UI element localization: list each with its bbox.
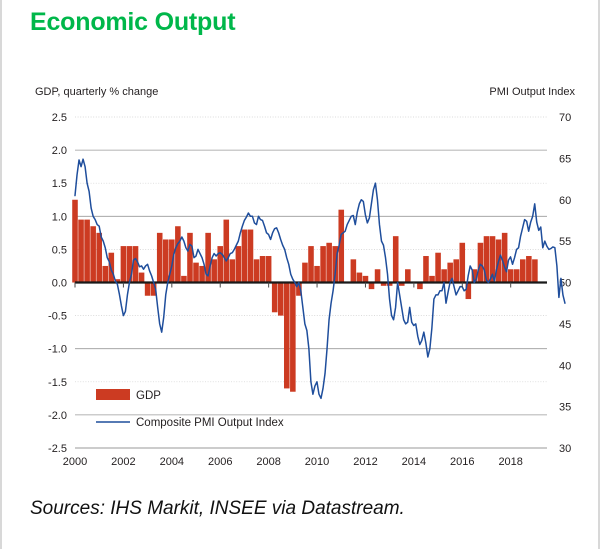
- x-axis-tick-label: 2008: [256, 456, 280, 468]
- gdp-bar: [405, 269, 411, 282]
- gdp-bar: [242, 230, 248, 283]
- gdp-bar: [435, 253, 441, 283]
- gdp-bar: [217, 246, 223, 282]
- gdp-bar: [272, 283, 278, 313]
- left-axis-tick-label: 1.5: [52, 178, 67, 190]
- gdp-bar: [72, 200, 78, 283]
- page-title: Economic Output: [30, 8, 235, 37]
- x-axis-tick-label: 2014: [402, 456, 426, 468]
- gdp-bar: [508, 269, 514, 282]
- x-axis-tick-label: 2000: [63, 456, 87, 468]
- left-axis-tick-label: 2.0: [52, 145, 67, 157]
- gdp-bar: [502, 233, 508, 283]
- gdp-bar: [284, 283, 290, 389]
- gdp-bar: [441, 269, 447, 282]
- chart-card: Economic Output GDP, quarterly % change …: [0, 0, 600, 549]
- x-axis-tick-label: 2016: [450, 456, 474, 468]
- left-axis-tick-label: 0.5: [52, 244, 67, 256]
- gdp-bar: [102, 266, 108, 283]
- x-axis-tick-label: 2006: [208, 456, 232, 468]
- gdp-bar: [459, 243, 465, 283]
- gdp-bar: [199, 266, 205, 283]
- gdp-bar: [139, 273, 145, 283]
- legend-label-pmi: Composite PMI Output Index: [136, 417, 284, 429]
- gdp-bar: [254, 259, 260, 282]
- gdp-bar: [453, 259, 459, 282]
- gdp-bar: [236, 246, 242, 282]
- legend-label-gdp: GDP: [136, 390, 161, 402]
- gdp-bar: [393, 236, 399, 282]
- x-axis-tick-label: 2018: [498, 456, 522, 468]
- gdp-bar: [375, 269, 381, 282]
- left-axis-tick-label: -1.5: [48, 377, 67, 389]
- gdp-bar: [484, 236, 490, 282]
- source-note: Sources: IHS Markit, INSEE via Datastrea…: [30, 498, 405, 520]
- gdp-bar: [230, 259, 236, 282]
- gdp-bar: [78, 220, 84, 283]
- gdp-bar: [223, 220, 229, 283]
- gdp-bar: [163, 239, 169, 282]
- gdp-bar: [514, 269, 520, 282]
- economic-output-chart: 2.52.01.51.00.50.0-0.5-1.0-1.5-2.0-2.570…: [2, 62, 600, 492]
- gdp-bar: [351, 259, 357, 282]
- x-axis-tick-label: 2004: [160, 456, 184, 468]
- gdp-bar: [357, 273, 363, 283]
- gdp-bar: [84, 220, 90, 283]
- gdp-bar: [326, 243, 332, 283]
- gdp-bar: [320, 246, 326, 282]
- right-axis-tick-label: 60: [559, 195, 571, 207]
- gdp-bar: [260, 256, 266, 282]
- gdp-bar: [193, 263, 199, 283]
- gdp-bar: [248, 230, 254, 283]
- left-axis-tick-label: -2.0: [48, 410, 67, 422]
- right-axis-tick-label: 40: [559, 360, 571, 372]
- gdp-bars-group: [72, 200, 537, 392]
- gdp-bar: [157, 233, 163, 283]
- gdp-bar: [520, 259, 526, 282]
- x-axis-tick-label: 2002: [111, 456, 135, 468]
- right-axis-tick-label: 65: [559, 153, 571, 165]
- left-axis-tick-label: 0.0: [52, 278, 67, 290]
- gdp-bar: [266, 256, 272, 282]
- gdp-bar: [90, 226, 96, 282]
- gdp-bar: [175, 226, 181, 282]
- right-axis-tick-label: 30: [559, 443, 571, 455]
- gdp-bar: [314, 266, 320, 283]
- gdp-bar: [121, 246, 127, 282]
- gdp-bar: [302, 263, 308, 283]
- right-axis-tick-label: 35: [559, 402, 571, 414]
- chart-plot-region: GDP, quarterly % change PMI Output Index…: [2, 62, 600, 492]
- gdp-bar: [145, 283, 151, 296]
- gdp-bar: [278, 283, 284, 316]
- x-axis-tick-label: 2010: [305, 456, 329, 468]
- right-axis-tick-label: 70: [559, 112, 571, 124]
- legend-swatch-gdp: [96, 389, 130, 400]
- left-axis-tick-label: -1.0: [48, 344, 67, 356]
- gdp-bar: [96, 233, 102, 283]
- gdp-bar: [187, 233, 193, 283]
- gdp-bar: [290, 283, 296, 392]
- right-axis-tick-label: 55: [559, 236, 571, 248]
- left-axis-tick-label: -0.5: [48, 311, 67, 323]
- gdp-bar: [423, 256, 429, 282]
- gdp-bar: [308, 246, 314, 282]
- x-axis-tick-label: 2012: [353, 456, 377, 468]
- gdp-bar: [478, 243, 484, 283]
- left-axis-tick-label: 2.5: [52, 112, 67, 124]
- left-axis-tick-label: 1.0: [52, 211, 67, 223]
- gdp-bar: [532, 259, 538, 282]
- gdp-bar: [526, 256, 532, 282]
- gdp-bar: [211, 259, 217, 282]
- right-axis-tick-label: 45: [559, 319, 571, 331]
- left-axis-tick-label: -2.5: [48, 443, 67, 455]
